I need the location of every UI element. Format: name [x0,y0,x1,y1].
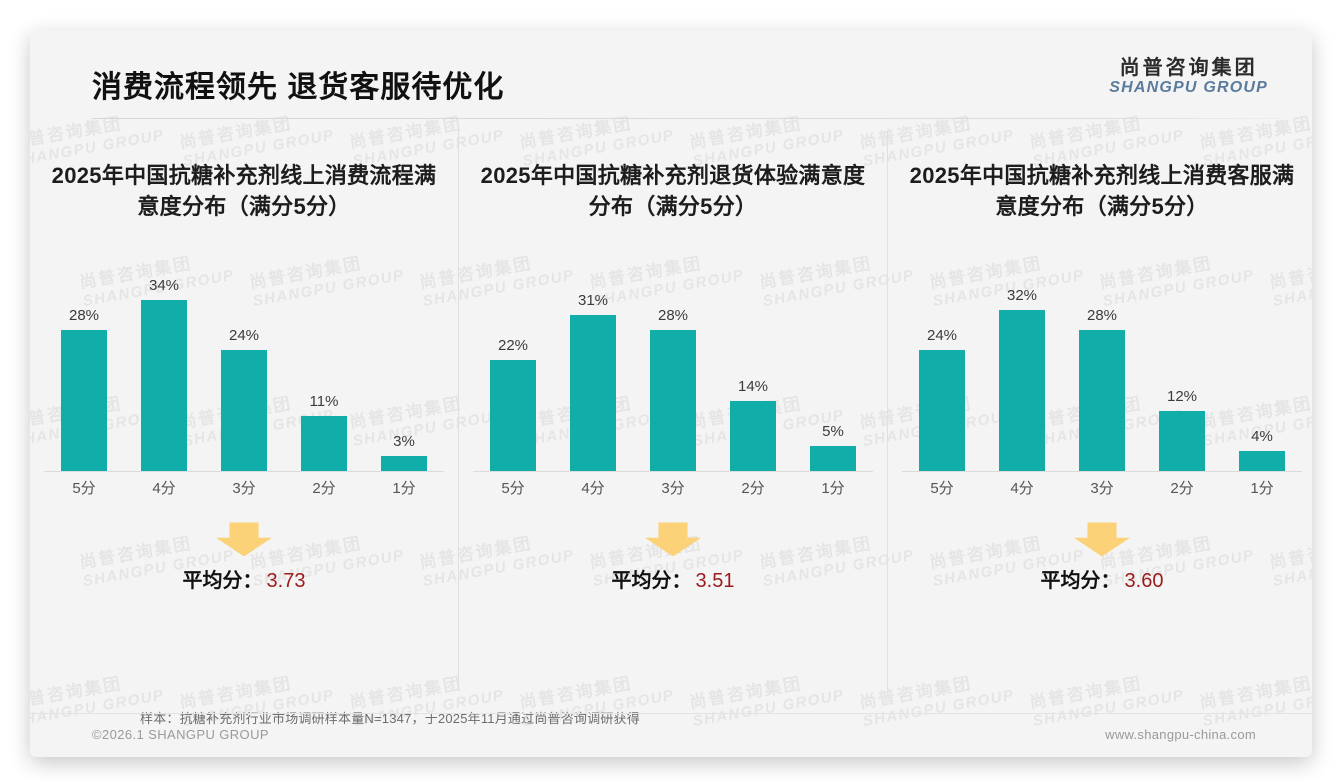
bar-chart-plot: 28%34%24%11%3%5分4分3分2分1分 [44,244,444,502]
x-axis-tick-label: 1分 [1227,477,1297,498]
bar-group[interactable]: 24% [209,244,279,471]
logo-chinese-text: 尚普咨询集团 [1109,58,1268,79]
bar-value-label: 3% [393,433,415,450]
bar[interactable] [1159,411,1205,471]
average-score-callout: 平均分：3.51 [473,522,873,593]
bar[interactable] [730,401,776,471]
bar[interactable] [650,330,696,471]
x-axis-tick-labels: 5分4分3分2分1分 [44,472,444,502]
slide-header: 消费流程领先 退货客服待优化 尚普咨询集团 SHANGPU GROUP [30,30,1312,119]
copyright-text: ©2026.1 SHANGPU GROUP [92,727,269,742]
x-axis-tick-label: 2分 [1147,477,1217,498]
x-axis-tick-labels: 5分4分3分2分1分 [473,472,873,502]
bar-value-label: 14% [738,378,768,395]
bar[interactable] [1079,330,1125,471]
chart-panel-1: 2025年中国抗糖补充剂线上消费流程满意度分布（满分5分）28%34%24%11… [30,130,458,690]
bar-group[interactable]: 5% [798,244,868,471]
average-score-label: 平均分： [1041,570,1121,592]
bar-group[interactable]: 4% [1227,244,1297,471]
average-score-label: 平均分： [612,570,692,592]
x-axis-tick-label: 3分 [209,477,279,498]
page-title: 消费流程领先 退货客服待优化 [92,62,504,106]
average-score-text: 平均分：3.60 [902,564,1302,593]
bar-value-label: 28% [69,307,99,324]
x-axis-tick-label: 4分 [987,477,1057,498]
bar-value-label: 4% [1251,428,1273,445]
bar[interactable] [301,416,347,471]
bar-value-label: 28% [658,307,688,324]
bar-value-label: 31% [578,292,608,309]
bar[interactable] [919,350,965,471]
x-axis-tick-labels: 5分4分3分2分1分 [902,472,1302,502]
logo-english-text: SHANGPU GROUP [1109,80,1268,97]
bar-value-label: 12% [1167,388,1197,405]
chart-title: 2025年中国抗糖补充剂退货体验满意度分布（满分5分） [473,160,873,222]
x-axis-tick-label: 5分 [907,477,977,498]
bar-group[interactable]: 28% [638,244,708,471]
average-score-value: 3.73 [267,570,306,592]
bar-value-label: 11% [310,393,339,410]
average-score-text: 平均分：3.73 [44,564,444,593]
average-score-label: 平均分： [183,570,263,592]
x-axis-tick-label: 5分 [49,477,119,498]
bar[interactable] [570,315,616,471]
chart-title: 2025年中国抗糖补充剂线上消费流程满意度分布（满分5分） [44,160,444,222]
bar-group[interactable]: 22% [478,244,548,471]
bar-group[interactable]: 34% [129,244,199,471]
header-divider [92,118,1280,119]
bar-value-label: 28% [1087,307,1117,324]
x-axis-tick-label: 5分 [478,477,548,498]
bar-chart-plot: 22%31%28%14%5%5分4分3分2分1分 [473,244,873,502]
bar-value-label: 5% [822,423,844,440]
bar-group[interactable]: 28% [49,244,119,471]
chart-panel-3: 2025年中国抗糖补充剂线上消费客服满意度分布（满分5分）24%32%28%12… [887,130,1312,690]
bar-group[interactable]: 11% [289,244,359,471]
chart-panel-2: 2025年中国抗糖补充剂退货体验满意度分布（满分5分）22%31%28%14%5… [458,130,887,690]
average-score-value: 3.51 [696,570,735,592]
bar[interactable] [999,310,1045,471]
bar-group[interactable]: 12% [1147,244,1217,471]
x-axis-tick-label: 3分 [638,477,708,498]
slide-footer: ©2026.1 SHANGPU GROUP www.shangpu-china.… [30,713,1312,757]
x-axis-tick-label: 4分 [558,477,628,498]
bar-group[interactable]: 14% [718,244,788,471]
website-link[interactable]: www.shangpu-china.com [1105,727,1256,742]
x-axis-tick-label: 4分 [129,477,199,498]
average-score-text: 平均分：3.51 [473,564,873,593]
slide-card: 尚普咨询集团SHANGPU GROUP尚普咨询集团SHANGPU GROUP尚普… [30,30,1312,757]
brand-logo: 尚普咨询集团 SHANGPU GROUP [1109,58,1268,97]
x-axis-tick-label: 2分 [289,477,359,498]
bar-value-label: 24% [927,327,957,344]
bar-value-label: 22% [498,337,528,354]
x-axis-tick-label: 2分 [718,477,788,498]
x-axis-tick-label: 1分 [369,477,439,498]
bar[interactable] [61,330,107,471]
bar[interactable] [141,300,187,471]
average-score-callout: 平均分：3.60 [902,522,1302,593]
bar-series: 22%31%28%14%5% [473,244,873,471]
bar-group[interactable]: 31% [558,244,628,471]
bar-group[interactable]: 28% [1067,244,1137,471]
bar-value-label: 24% [229,327,259,344]
bar-group[interactable]: 24% [907,244,977,471]
bar[interactable] [1239,451,1285,471]
x-axis-tick-label: 1分 [798,477,868,498]
bar[interactable] [490,360,536,471]
bar[interactable] [381,456,427,471]
chart-title: 2025年中国抗糖补充剂线上消费客服满意度分布（满分5分） [902,160,1302,222]
arrow-down-icon [1074,522,1130,556]
bar-group[interactable]: 32% [987,244,1057,471]
bar-value-label: 34% [149,277,179,294]
bar-value-label: 32% [1007,287,1037,304]
arrow-down-icon [216,522,272,556]
bar-group[interactable]: 3% [369,244,439,471]
average-score-callout: 平均分：3.73 [44,522,444,593]
bar[interactable] [221,350,267,471]
average-score-value: 3.60 [1125,570,1164,592]
bar-series: 24%32%28%12%4% [902,244,1302,471]
bar-chart-plot: 24%32%28%12%4%5分4分3分2分1分 [902,244,1302,502]
arrow-down-icon [645,522,701,556]
bar[interactable] [810,446,856,471]
bar-series: 28%34%24%11%3% [44,244,444,471]
x-axis-tick-label: 3分 [1067,477,1137,498]
charts-container: 2025年中国抗糖补充剂线上消费流程满意度分布（满分5分）28%34%24%11… [30,130,1312,690]
